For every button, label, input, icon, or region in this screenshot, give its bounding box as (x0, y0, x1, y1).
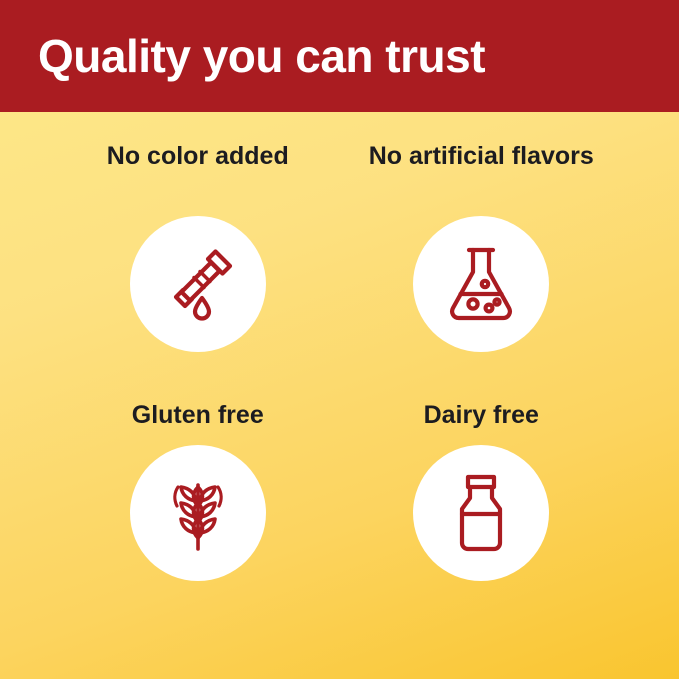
milk-bottle-icon (435, 467, 527, 559)
feature-badge (130, 216, 266, 352)
page-title: Quality you can trust (38, 32, 485, 80)
feature-badge (413, 216, 549, 352)
header-band: Quality you can trust (0, 0, 679, 112)
flask-icon (435, 238, 527, 330)
quality-poster: Quality you can trust No color added (0, 0, 679, 679)
feature-no-color-added: No color added (56, 142, 340, 401)
feature-label: Dairy free (424, 401, 539, 430)
feature-gluten-free: Gluten free (56, 401, 340, 660)
feature-badge (413, 445, 549, 581)
feature-label: No artificial flavors (369, 142, 594, 202)
feature-label: Gluten free (132, 401, 264, 430)
feature-badge (130, 445, 266, 581)
feature-grid: No color added No artificial flavors (0, 132, 679, 679)
wheat-icon (152, 467, 244, 559)
feature-label: No color added (107, 142, 289, 202)
feature-dairy-free: Dairy free (340, 401, 624, 660)
feature-no-artificial-flavors: No artificial flavors (340, 142, 624, 401)
dropper-icon (152, 238, 244, 330)
